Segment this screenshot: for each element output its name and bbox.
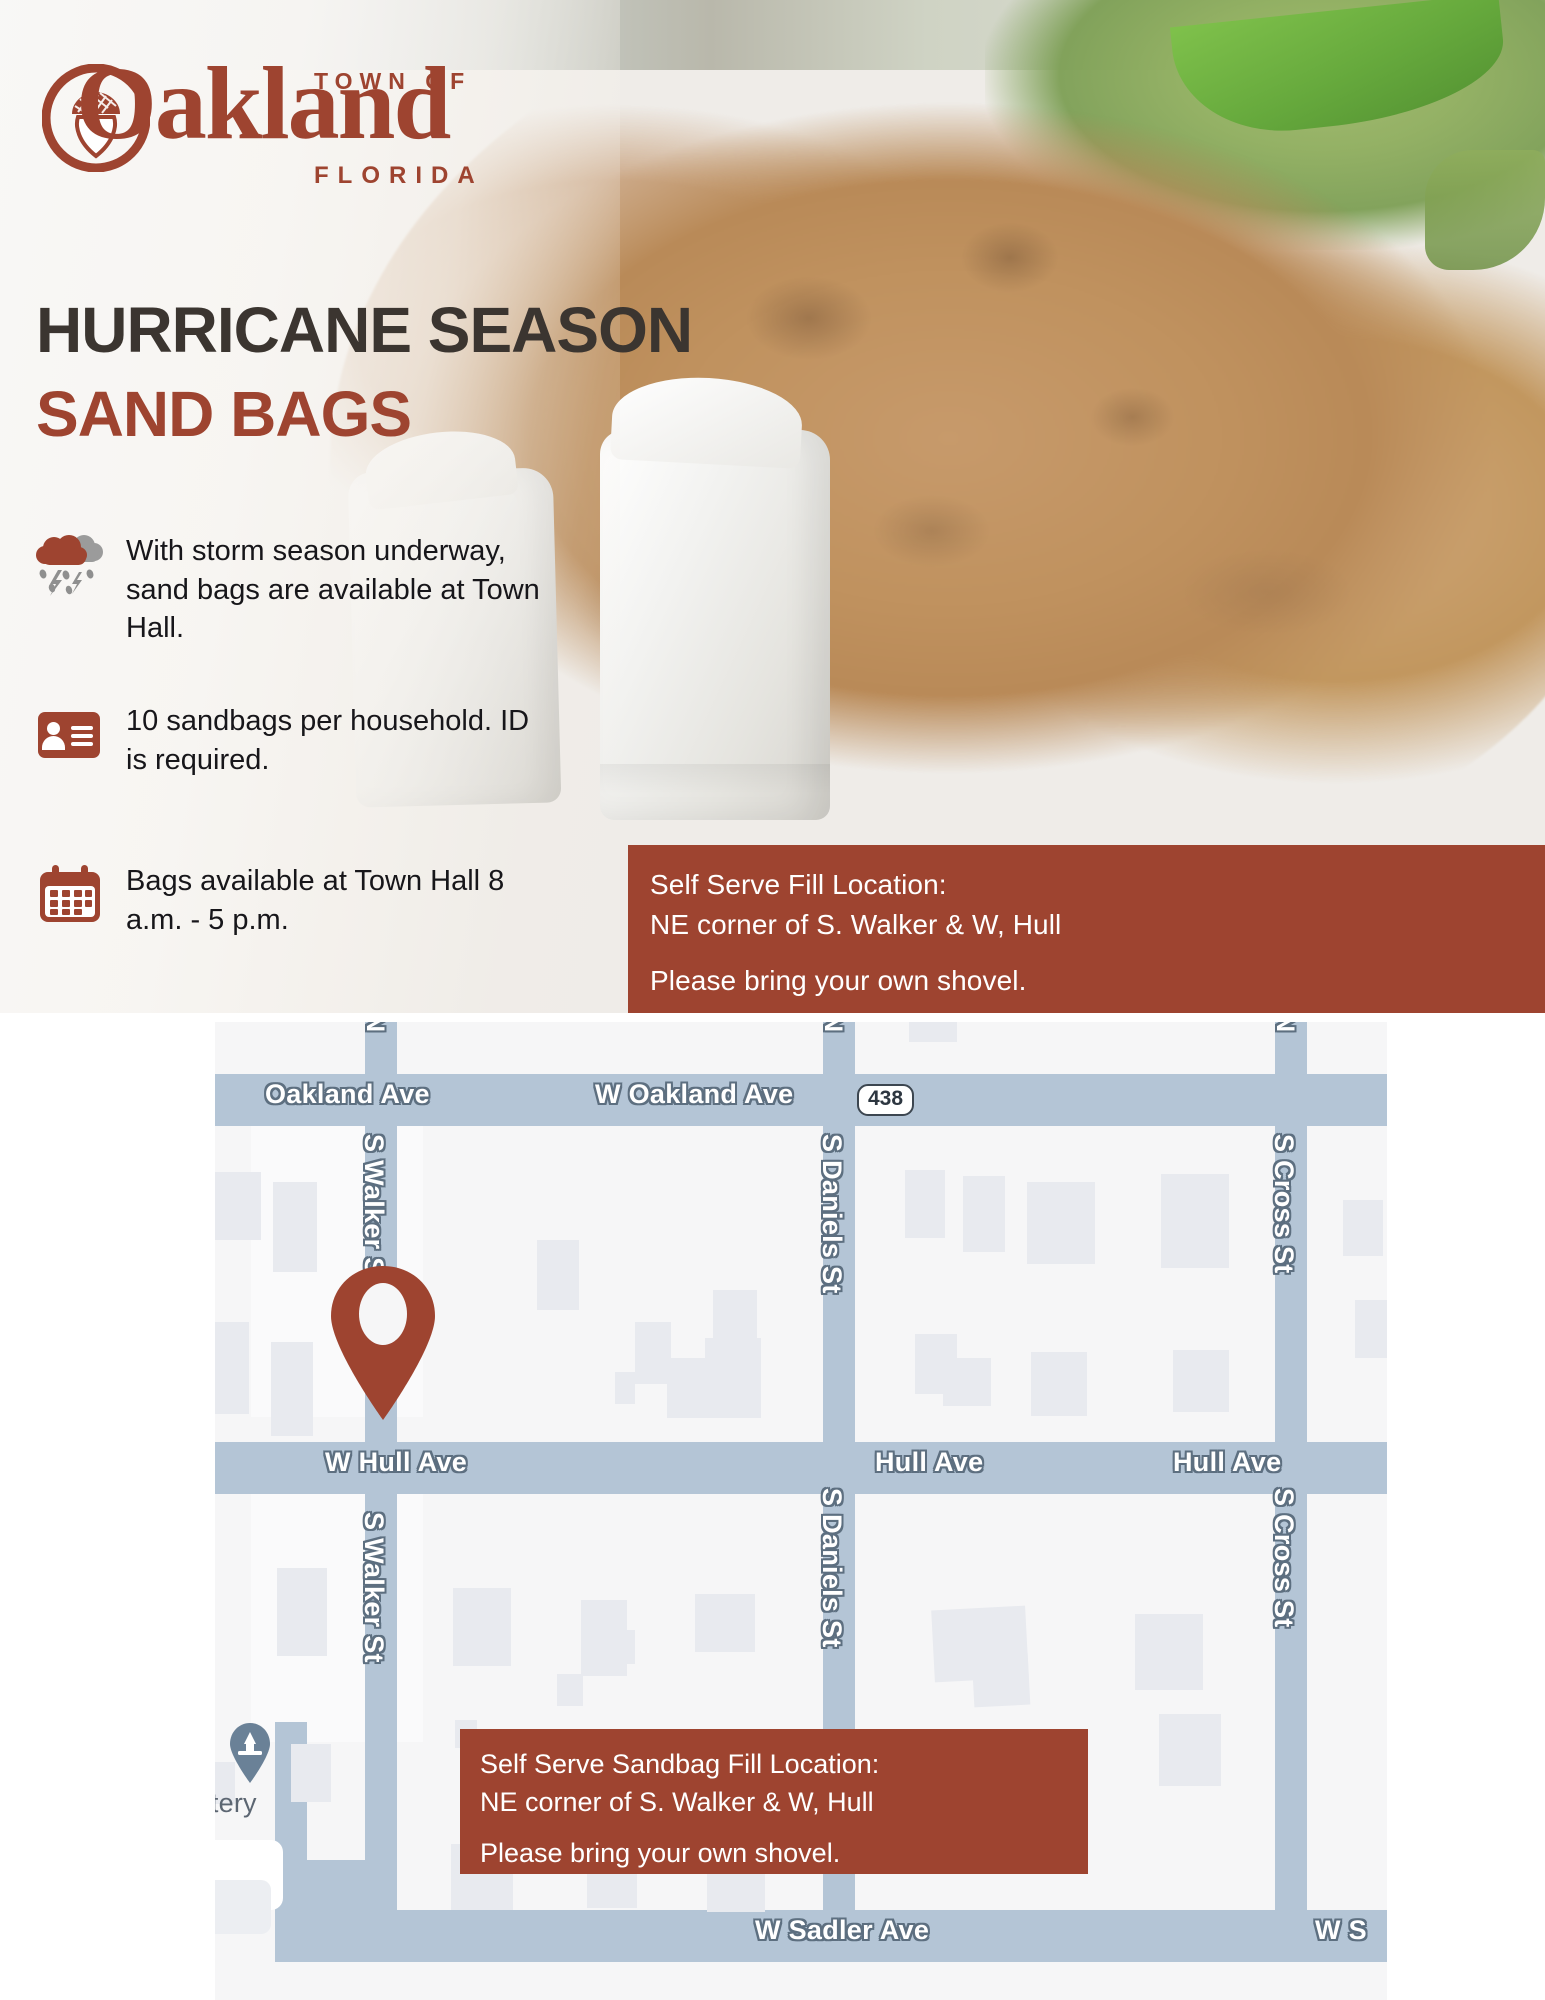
map-attribution-card-inner [215,1880,271,1934]
id-card-icon [36,700,104,768]
street-label-s-cross-st-north: S Cross St [1268,1134,1299,1274]
headline-line-1: HURRICANE SEASON [36,298,692,362]
street-label-oakland-ave: Oakland Ave [265,1079,430,1110]
map-building [277,1568,327,1656]
map-building [557,1674,583,1706]
street-label-hull-ave-center: Hull Ave [875,1447,983,1478]
map-block [243,1022,1387,1076]
street-label-n-walker: N [360,1022,389,1032]
map-building [453,1588,511,1666]
street-label-s-daniels-st-north: S Daniels St [816,1134,847,1294]
map-building [905,1170,945,1238]
map-building [291,1744,331,1802]
info-item-hours: Bags available at Town Hall 8 a.m. - 5 p… [36,860,556,939]
flyer-hero: Oakland TOWN OF FLORIDA HURRICANE SEASON… [0,0,1545,1013]
map-building [909,1022,957,1042]
flyer-banner-line-2: NE corner of S. Walker & W, Hull [650,905,1523,945]
map-building [1173,1350,1229,1412]
info-text-hours: Bags available at Town Hall 8 a.m. - 5 p… [126,860,556,939]
logo-florida-text: FLORIDA [314,162,484,190]
map-building [943,1358,991,1406]
flyer-fill-location-banner: Self Serve Fill Location: NE corner of S… [628,845,1545,1013]
map-building [1343,1200,1383,1256]
street-label-n-daniels: N [818,1022,847,1032]
storm-cloud-icon [36,530,104,598]
street-label-s-daniels-st-south: S Daniels St [816,1488,847,1648]
map-building [1027,1182,1095,1264]
street-label-s-cross-st-south: S Cross St [1268,1488,1299,1628]
map-building [215,1322,249,1414]
map-banner-line-3: Please bring your own shovel. [480,1834,1068,1872]
flyer-banner-line-3: Please bring your own shovel. [650,961,1523,1001]
street-label-s-walker-st-south: S Walker St [358,1512,389,1663]
map-building [613,1630,635,1664]
sandbag-flyer-poster: Oakland TOWN OF FLORIDA HURRICANE SEASON… [0,0,1545,2000]
street-label-w-oakland-ave: W Oakland Ave [595,1079,793,1110]
map-building [615,1372,635,1404]
calendar-icon [36,860,104,928]
map-building [667,1358,707,1418]
map-building [273,1182,317,1272]
map-building [271,1342,313,1436]
sandbag-right [600,430,830,820]
headline-line-2: SAND BAGS [36,382,411,446]
map-banner-line-1: Self Serve Sandbag Fill Location: [480,1745,1068,1783]
map-building [1161,1174,1229,1268]
map-building [705,1338,761,1418]
cemetery-pin-icon[interactable] [227,1722,273,1784]
route-shield-438: 438 [857,1084,914,1116]
map-building [1355,1300,1387,1358]
map-building [1031,1352,1087,1416]
info-text-id: 10 sandbags per household. ID is require… [126,700,556,779]
map-building [1159,1714,1221,1786]
map-building [963,1176,1005,1252]
map-building [537,1240,579,1310]
cemetery-label: metery [215,1788,257,1819]
street-label-w-hull-ave: W Hull Ave [325,1447,467,1478]
street-label-w-sadler-ave: W Sadler Ave [755,1915,929,1946]
map-building [635,1322,671,1384]
info-text-storm: With storm season underway, sand bags ar… [126,530,556,648]
info-item-storm: With storm season underway, sand bags ar… [36,530,556,648]
street-label-w-s-partial: W S [1315,1915,1367,1946]
street-label-hull-ave-east: Hull Ave [1173,1447,1281,1478]
map-building [972,1653,1031,1708]
town-of-oakland-logo: Oakland TOWN OF FLORIDA [42,58,562,203]
map-building [695,1594,755,1652]
map-building [1135,1614,1203,1690]
map-building [215,1172,261,1240]
flyer-banner-line-1: Self Serve Fill Location: [650,865,1523,905]
map-pin-icon[interactable] [323,1262,443,1422]
street-label-n-cross: N [1270,1022,1299,1032]
map-fill-location-banner: Self Serve Sandbag Fill Location: NE cor… [460,1729,1088,1874]
info-item-id: 10 sandbags per household. ID is require… [36,700,556,779]
map-banner-line-2: NE corner of S. Walker & W, Hull [480,1783,1068,1821]
logo-town-of-text: TOWN OF [314,68,471,95]
